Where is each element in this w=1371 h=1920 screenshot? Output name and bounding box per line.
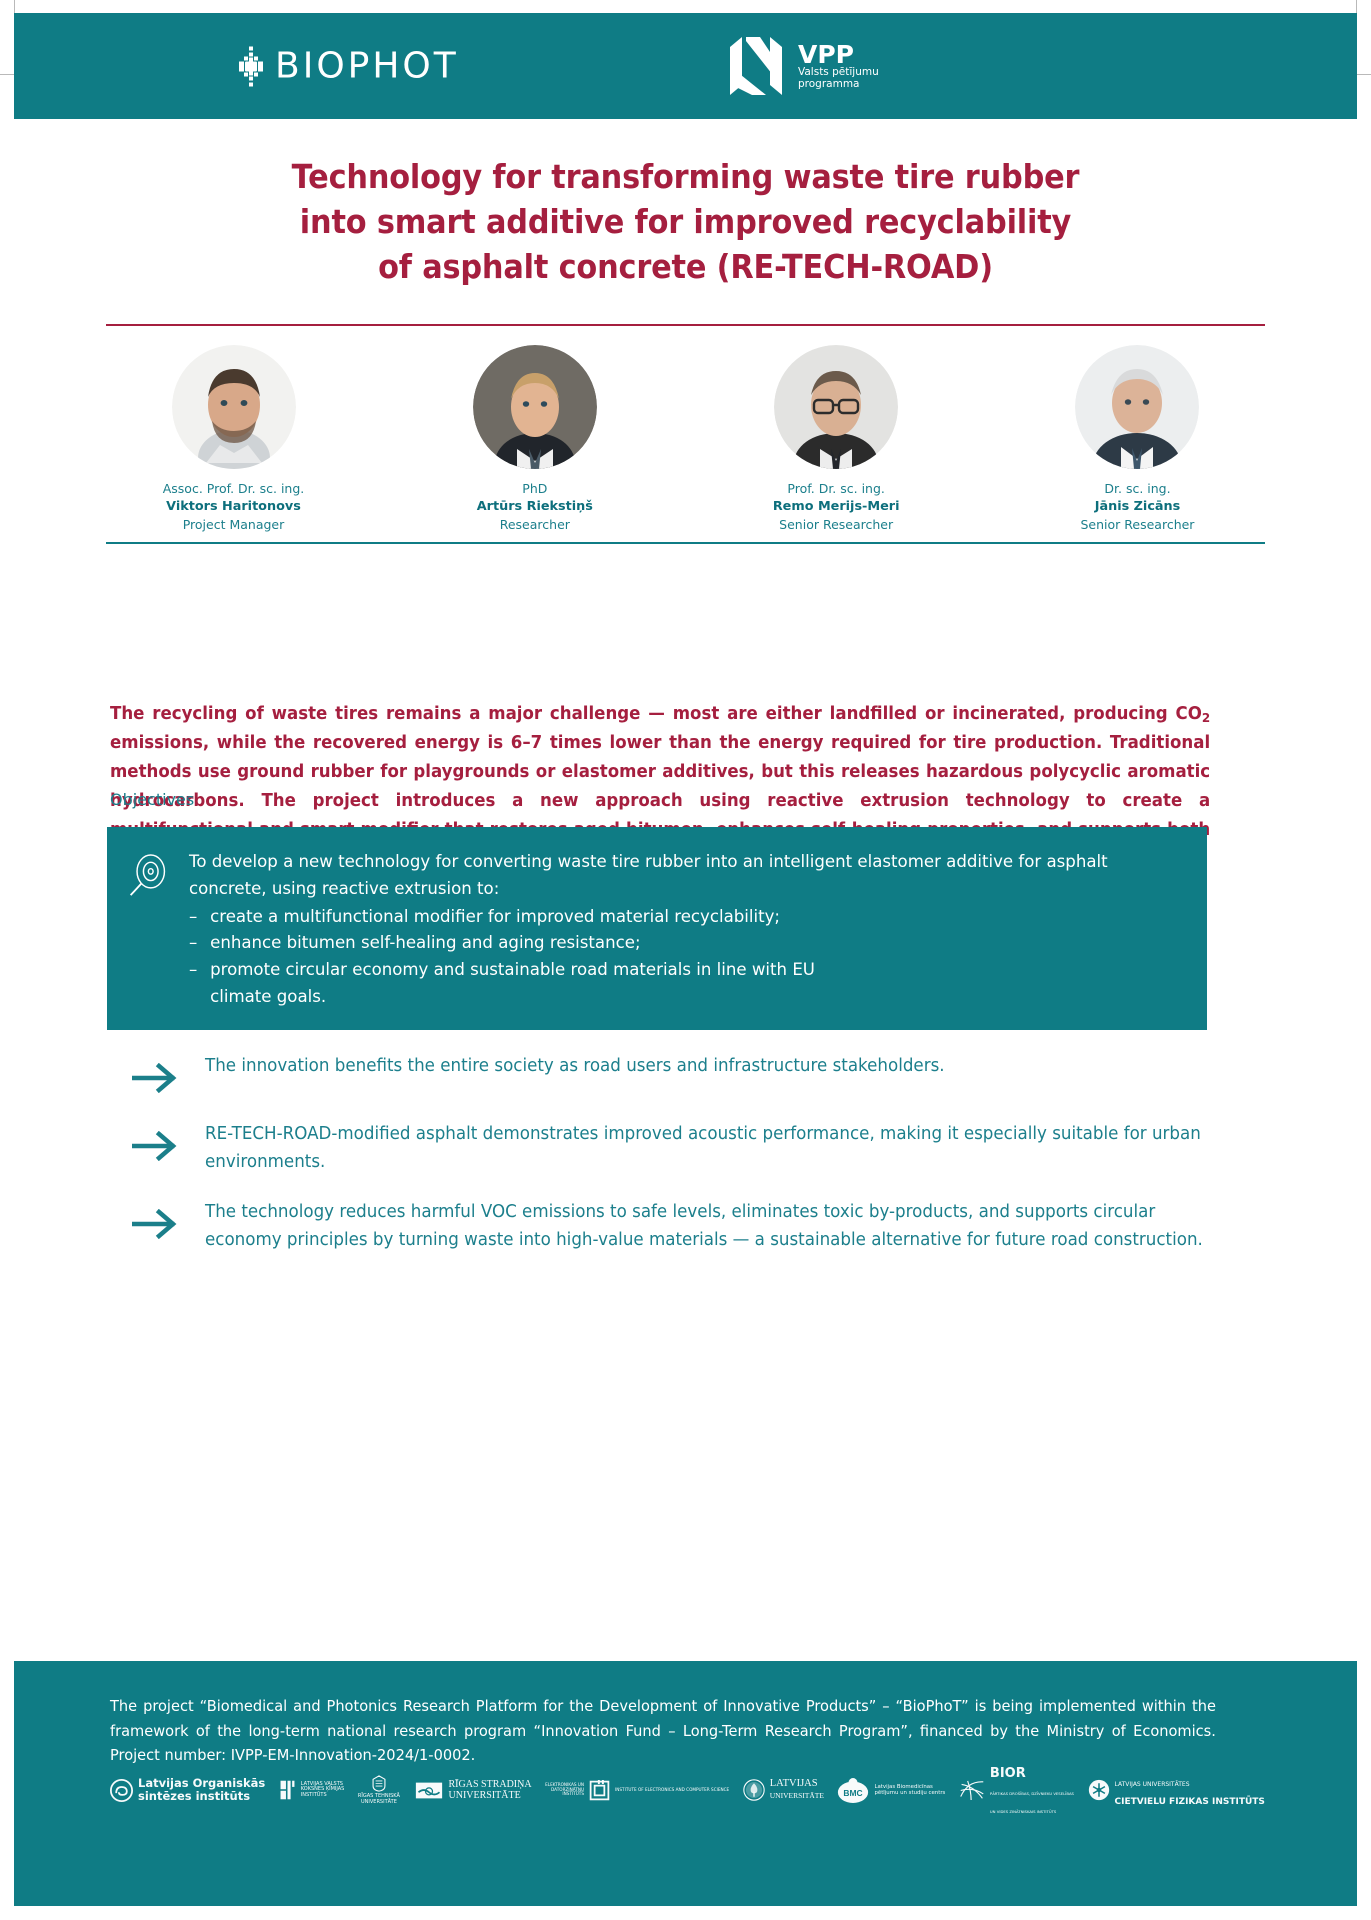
title-line-1: Technology for transforming waste tire r… — [147, 155, 1224, 200]
objectives-bullet: – promote circular economy and sustainab… — [189, 957, 1128, 1011]
biophot-mark-icon — [236, 46, 266, 86]
rtu-logo-text: RĪGAS TEHNISKĀ UNIVERSITĀTE — [358, 1794, 400, 1805]
objectives-bullet: – enhance bitumen self-healing and aging… — [189, 930, 1128, 957]
partner-logo-kki: LATVIJAS VALSTS KOKSNES ĶĪMIJAS INSTITŪT… — [279, 1779, 345, 1801]
key-point-text: The technology reduces harmful VOC emiss… — [205, 1199, 1203, 1254]
bior-line-2: PĀRTIKAS DROŠĪBAS, DZĪVNIEKU VESELĪBAS — [990, 1791, 1074, 1796]
member-degree: Dr. sc. ing. — [1010, 480, 1265, 498]
arrow-right-icon — [132, 1053, 205, 1098]
bmc-mark-icon: BMC — [837, 1777, 869, 1804]
member-name: Artūrs Riekstiņš — [407, 498, 662, 516]
key-point: The innovation benefits the entire socie… — [132, 1053, 1252, 1098]
kki-logo-text: LATVIJAS VALSTS KOKSNES ĶĪMIJAS INSTITŪT… — [301, 1782, 345, 1799]
team-member: Assoc. Prof. Dr. sc. ing. Viktors Harito… — [106, 345, 361, 534]
header-band: BIOPHOT VPP Valsts pētījumu programma — [14, 13, 1357, 119]
kki-line-3: INSTITŪTS — [301, 1792, 327, 1798]
edi-line-3: INSTITŪTS — [562, 1791, 584, 1796]
bullet-dash: – — [189, 904, 201, 931]
rtu-crest-icon — [368, 1775, 390, 1792]
key-points-list: The innovation benefits the entire socie… — [132, 1053, 1252, 1254]
edi-logo-text-en: INSTITUTE OF ELECTRONICS AND COMPUTER SC… — [615, 1788, 729, 1793]
osi-mark-icon — [110, 1779, 133, 1802]
objectives-intro: To develop a new technology for converti… — [189, 849, 1128, 903]
bmc-line-3: pētījumu un studiju centrs — [874, 1790, 945, 1796]
cfi-mark-icon — [1088, 1779, 1110, 1801]
partner-logo-osi: Latvijas Organiskās sintēzes institūts — [110, 1777, 265, 1803]
key-point-text: The innovation benefits the entire socie… — [205, 1053, 1203, 1081]
cfi-line-1: LATVIJAS UNIVERSITĀTES — [1115, 1781, 1190, 1788]
biophot-wordmark: BIOPHOT — [275, 46, 459, 87]
member-role: Project Manager — [106, 516, 361, 534]
team-row: Assoc. Prof. Dr. sc. ing. Viktors Harito… — [106, 345, 1265, 534]
lu-logo-text: LATVIJAS UNIVERSITĀTE — [770, 1778, 824, 1802]
page-title: Technology for transforming waste tire r… — [147, 155, 1224, 290]
title-line-2: into smart additive for improved recycla… — [147, 200, 1224, 245]
lu-line-2: UNIVERSITĀTE — [770, 1791, 824, 1800]
arrow-right-icon — [132, 1199, 205, 1244]
rsu-logo-text: RĪGAS STRADIŅA UNIVERSITĀTE — [449, 1779, 532, 1801]
team-member: Prof. Dr. sc. ing. Remo Merijs-Meri Seni… — [709, 345, 964, 534]
poster-page: BIOPHOT VPP Valsts pētījumu programma Te… — [0, 0, 1371, 1920]
bullet-dash: – — [189, 957, 201, 1011]
partner-logo-edi: ELEKTRONIKAS UN DATORZINĀTŅU INSTITŪTS I… — [545, 1780, 729, 1801]
avatar — [172, 345, 296, 469]
abstract-part-1: The recycling of waste tires remains a m… — [110, 704, 1202, 724]
member-degree: PhD — [407, 480, 662, 498]
magnifier-target-icon — [127, 853, 169, 1030]
member-role: Researcher — [407, 516, 662, 534]
avatar — [774, 345, 898, 469]
objectives-icon-cell — [107, 827, 189, 1030]
rsu-line-1: RĪGAS STRADIŅA — [449, 1779, 532, 1790]
footer-funding-text: The project “Biomedical and Photonics Re… — [110, 1694, 1216, 1768]
rsu-line-2: UNIVERSITĀTE — [449, 1790, 521, 1801]
kki-mark-icon — [279, 1779, 296, 1801]
svg-text:BMC: BMC — [844, 1787, 863, 1797]
bmc-logo-text: Latvijas Biomedicīnas pētījumu un studij… — [874, 1784, 945, 1796]
bior-logo-text: BIOR PĀRTIKAS DROŠĪBAS, DZĪVNIEKU VESELĪ… — [990, 1763, 1074, 1817]
bullet-text: create a multifunctional modifier for im… — [210, 904, 780, 931]
objectives-text: To develop a new technology for converti… — [189, 827, 1166, 1030]
vpp-text-block: VPP Valsts pētījumu programma — [798, 42, 879, 91]
objectives-bullet-list: – create a multifunctional modifier for … — [189, 904, 1128, 1011]
member-role: Senior Researcher — [1010, 516, 1265, 534]
member-degree: Assoc. Prof. Dr. sc. ing. — [106, 480, 361, 498]
bullet-text: promote circular economy and sustainable… — [210, 957, 824, 1011]
key-point: The technology reduces harmful VOC emiss… — [132, 1199, 1252, 1254]
divider-crimson — [106, 324, 1265, 326]
lu-seal-icon — [743, 1779, 765, 1801]
bior-mark-icon — [959, 1779, 985, 1802]
rsu-mark-icon — [414, 1780, 444, 1801]
objectives-bullet: – create a multifunctional modifier for … — [189, 904, 1128, 931]
edi-mark-icon — [589, 1780, 610, 1801]
team-member: PhD Artūrs Riekstiņš Researcher — [407, 345, 662, 534]
lu-line-1: LATVIJAS — [770, 1778, 818, 1789]
vpp-sub-line2: programma — [798, 79, 879, 91]
member-name: Remo Merijs-Meri — [709, 498, 964, 516]
cfi-line-2: CIETVIELU FIZIKAS INSTITŪTS — [1115, 1797, 1265, 1807]
footer-band: The project “Biomedical and Photonics Re… — [14, 1661, 1357, 1906]
edi-logo-text-lv: ELEKTRONIKAS UN DATORZINĀTŅU INSTITŪTS — [545, 1783, 584, 1797]
vpp-logo: VPP Valsts pētījumu programma — [726, 35, 879, 97]
title-line-3: of asphalt concrete (RE-TECH-ROAD) — [147, 245, 1224, 290]
bior-line-1: BIOR — [990, 1766, 1026, 1781]
vpp-sub-line1: Valsts pētījumu — [798, 67, 879, 79]
objectives-label: Objectives — [110, 790, 194, 809]
partner-logo-bior: BIOR PĀRTIKAS DROŠĪBAS, DZĪVNIEKU VESELĪ… — [959, 1763, 1074, 1817]
partner-logo-rtu: RĪGAS TEHNISKĀ UNIVERSITĀTE — [358, 1775, 400, 1805]
bullet-dash: – — [189, 930, 201, 957]
key-point: RE-TECH-ROAD-modified asphalt demonstrat… — [132, 1121, 1252, 1176]
key-point-text: RE-TECH-ROAD-modified asphalt demonstrat… — [205, 1121, 1203, 1176]
cfi-logo-text: LATVIJAS UNIVERSITĀTES CIETVIELU FIZIKAS… — [1115, 1772, 1265, 1808]
abstract-subscript: 2 — [1202, 710, 1210, 725]
osi-line-2: sintēzes institūts — [138, 1789, 250, 1803]
partner-logo-lu: LATVIJAS UNIVERSITĀTE — [743, 1778, 824, 1802]
vpp-abbr: VPP — [798, 42, 879, 68]
bullet-text: enhance bitumen self-healing and aging r… — [210, 930, 640, 957]
member-name: Viktors Haritonovs — [106, 498, 361, 516]
rtu-line-2: UNIVERSITĀTE — [361, 1799, 397, 1805]
avatar — [1075, 345, 1199, 469]
footer-partner-logos: Latvijas Organiskās sintēzes institūts L… — [110, 1769, 1265, 1811]
edi-line-4: INSTITUTE OF ELECTRONICS AND COMPUTER SC… — [615, 1787, 729, 1792]
member-role: Senior Researcher — [709, 516, 964, 534]
partner-logo-rsu: RĪGAS STRADIŅA UNIVERSITĀTE — [414, 1779, 532, 1801]
member-name: Jānis Zicāns — [1010, 498, 1265, 516]
partner-logo-bmc: BMC Latvijas Biomedicīnas pētījumu un st… — [837, 1777, 945, 1804]
member-degree: Prof. Dr. sc. ing. — [709, 480, 964, 498]
team-member: Dr. sc. ing. Jānis Zicāns Senior Researc… — [1010, 345, 1265, 534]
divider-teal — [106, 542, 1265, 544]
objectives-box: To develop a new technology for converti… — [107, 827, 1207, 1030]
avatar — [473, 345, 597, 469]
biophot-logo: BIOPHOT — [236, 46, 459, 87]
arrow-right-icon — [132, 1121, 205, 1166]
partner-logo-cfi: LATVIJAS UNIVERSITĀTES CIETVIELU FIZIKAS… — [1088, 1772, 1265, 1808]
vpp-mark-icon — [726, 35, 788, 97]
bior-line-3: UN VIDES ZINĀTNISKAIS INSTITŪTS — [990, 1809, 1056, 1814]
osi-logo-text: Latvijas Organiskās sintēzes institūts — [138, 1777, 265, 1803]
